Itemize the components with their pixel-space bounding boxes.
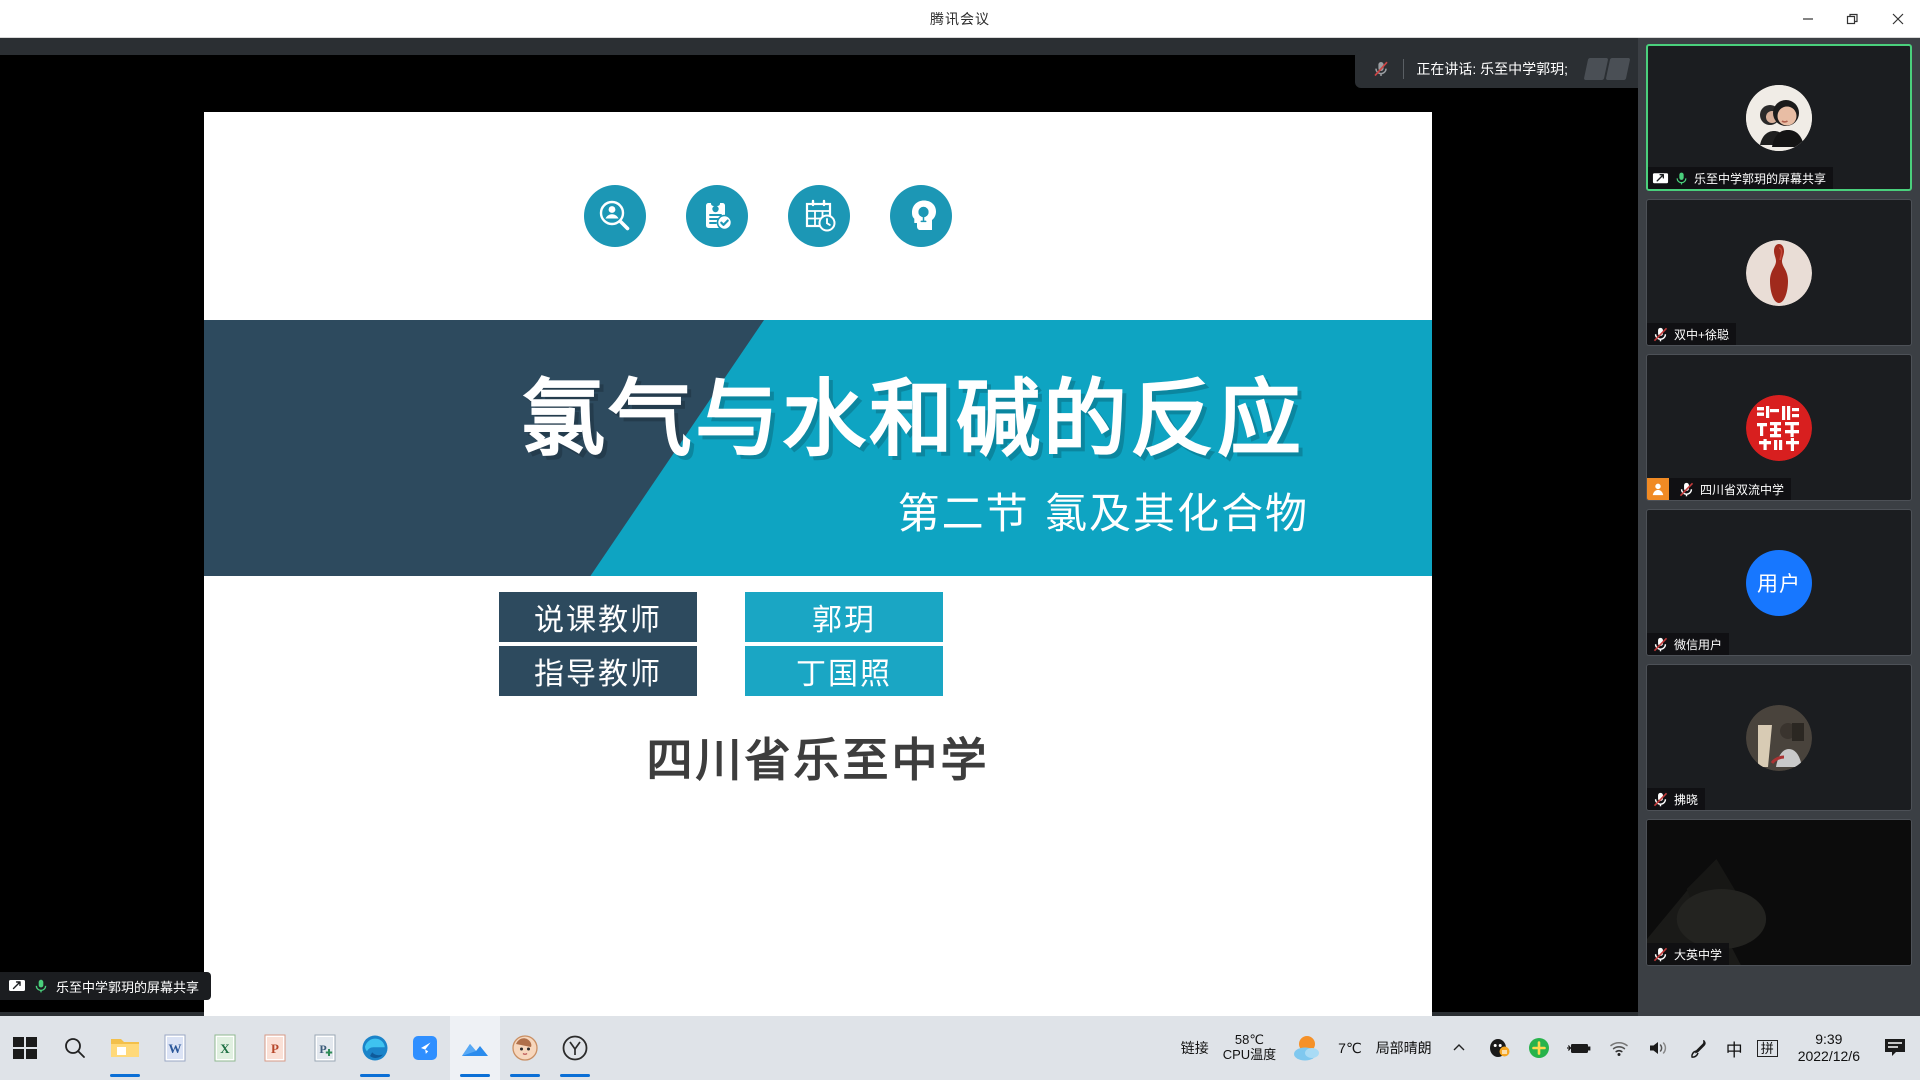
mic-muted-icon — [1647, 791, 1669, 808]
close-button[interactable] — [1875, 0, 1920, 38]
pen-icon[interactable] — [1686, 1035, 1712, 1061]
presentation-slide: 氯气与水和碱的反应 第二节 氯及其化合物 说课教师 指导教师 郭玥 丁国照 四川… — [204, 112, 1432, 1033]
banner-thumbnails — [1586, 58, 1628, 80]
ime-mode-indicator[interactable]: 中 — [1726, 1036, 1743, 1061]
word-app-button[interactable]: W — [150, 1016, 200, 1080]
participant-nametag: 大英中学 — [1647, 943, 1729, 965]
participant-nametag: 双中+徐聪 — [1647, 323, 1736, 345]
participant-card-0[interactable]: 乐至中学郭玥的屏幕共享 — [1646, 44, 1912, 191]
running-indicator — [360, 1074, 390, 1077]
head-lightbulb-icon — [890, 185, 952, 247]
mic-muted-icon — [1647, 636, 1669, 653]
participant-card-2[interactable]: 四川省双流中学 — [1646, 354, 1912, 501]
clipboard-check-icon — [686, 185, 748, 247]
network-link-label[interactable]: 链接 — [1181, 1038, 1209, 1058]
participant-panel[interactable]: 乐至中学郭玥的屏幕共享 — [1638, 38, 1920, 1016]
mic-muted-icon — [1647, 946, 1669, 963]
avatar — [1746, 240, 1812, 306]
participant-name: 拂晓 — [1674, 791, 1698, 808]
teacher-value-column: 郭玥 丁国照 — [745, 592, 943, 696]
screen-share-label: 乐至中学郭玥的屏幕共享 — [56, 977, 199, 996]
avatar — [1746, 395, 1812, 461]
avatar — [1746, 85, 1812, 151]
participant-name: 大英中学 — [1674, 946, 1722, 963]
notification-icon[interactable] — [1880, 1033, 1910, 1063]
publisher-app-button[interactable]: P — [300, 1016, 350, 1080]
svg-text:P: P — [319, 1042, 326, 1056]
wifi-icon[interactable] — [1606, 1035, 1632, 1061]
screen-share-icon — [1648, 170, 1669, 187]
cpu-temp-value: 58℃ — [1235, 1033, 1264, 1048]
running-indicator — [510, 1074, 540, 1077]
search-button[interactable] — [50, 1016, 100, 1080]
calendar-clock-icon — [788, 185, 850, 247]
shared-screen-stage[interactable]: 氯气与水和碱的反应 第二节 氯及其化合物 说课教师 指导教师 郭玥 丁国照 四川… — [0, 38, 1638, 1016]
start-button[interactable] — [0, 1016, 50, 1080]
mic-muted-icon — [1371, 59, 1391, 79]
teacher-label-column: 说课教师 指导教师 — [499, 592, 697, 696]
host-badge-icon — [1647, 478, 1669, 500]
mic-on-icon — [33, 978, 49, 994]
chevron-up-icon[interactable] — [1446, 1035, 1472, 1061]
volume-icon[interactable] — [1646, 1035, 1672, 1061]
clock-time: 9:39 — [1815, 1031, 1842, 1048]
speaking-text: 正在讲话: 乐至中学郭玥; — [1416, 59, 1568, 79]
speaking-banner: 正在讲话: 乐至中学郭玥; — [1355, 50, 1638, 88]
screen-share-icon — [8, 977, 26, 995]
maximize-restore-button[interactable] — [1830, 0, 1875, 38]
participant-nametag: 拂晓 — [1647, 788, 1705, 810]
participant-card-4[interactable]: 拂晓 — [1646, 664, 1912, 811]
file-explorer-button[interactable] — [100, 1016, 150, 1080]
screen-share-status-pill: 乐至中学郭玥的屏幕共享 — [0, 972, 211, 1000]
mic-on-icon — [1674, 171, 1689, 186]
system-tray: 链接 58℃ CPU温度 7℃ 局部晴朗 — [1181, 1016, 1920, 1080]
slide-subtitle: 第二节 氯及其化合物 — [204, 480, 1309, 541]
participant-card-1[interactable]: 双中+徐聪 — [1646, 199, 1912, 346]
ime-pinyin-indicator[interactable]: 拼 — [1757, 1040, 1778, 1057]
window-title: 腾讯会议 — [930, 9, 990, 29]
participant-card-3[interactable]: 用户 微信用户 — [1646, 509, 1912, 656]
running-indicator — [560, 1074, 590, 1077]
qq-icon[interactable] — [1486, 1035, 1512, 1061]
participant-name: 乐至中学郭玥的屏幕共享 — [1694, 170, 1826, 187]
banner-divider — [1403, 59, 1404, 79]
teacher-label-1: 指导教师 — [499, 646, 697, 696]
slide-school-name: 四川省乐至中学 — [204, 724, 1432, 790]
tencent-meeting-window: 腾讯会议 — [0, 0, 1920, 1080]
green-plus-icon[interactable] — [1526, 1035, 1552, 1061]
clock-widget[interactable]: 9:39 2022/12/6 — [1792, 1031, 1866, 1065]
weather-description[interactable]: 局部晴朗 — [1376, 1038, 1432, 1058]
weather-temp[interactable]: 7℃ — [1338, 1040, 1362, 1057]
teacher-value-1: 丁国照 — [745, 646, 943, 696]
slide-title: 氯气与水和碱的反应 — [204, 352, 1304, 473]
excel-app-button[interactable]: X — [200, 1016, 250, 1080]
participant-name: 四川省双流中学 — [1700, 481, 1784, 498]
participant-card-5[interactable]: 大英中学 — [1646, 819, 1912, 966]
clock-date: 2022/12/6 — [1798, 1048, 1860, 1065]
avatar — [1746, 705, 1812, 771]
compass-app-button[interactable] — [550, 1016, 600, 1080]
window-controls — [1785, 0, 1920, 38]
powerpoint-app-button[interactable]: P — [250, 1016, 300, 1080]
avatar: 用户 — [1746, 550, 1812, 616]
participant-nametag: 四川省双流中学 — [1647, 478, 1791, 500]
svg-text:W: W — [169, 1041, 182, 1056]
windows-taskbar: W X P — [0, 1016, 1920, 1080]
svg-text:P: P — [271, 1041, 279, 1056]
participant-nametag: 乐至中学郭玥的屏幕共享 — [1648, 167, 1833, 189]
teacher-value-0: 郭玥 — [745, 592, 943, 642]
running-indicator — [110, 1074, 140, 1077]
battery-icon[interactable] — [1566, 1035, 1592, 1061]
mic-muted-icon — [1678, 481, 1695, 498]
avatar-app-button[interactable] — [500, 1016, 550, 1080]
minimize-button[interactable] — [1785, 0, 1830, 38]
cpu-temp-label: CPU温度 — [1223, 1048, 1276, 1063]
edge-browser-button[interactable] — [350, 1016, 400, 1080]
running-indicator — [460, 1074, 490, 1077]
person-search-icon — [584, 185, 646, 247]
tencent-meeting-app-button[interactable] — [450, 1016, 500, 1080]
taskbar-apps: W X P — [0, 1016, 600, 1080]
weather-icon[interactable] — [1290, 1031, 1324, 1065]
window-titlebar: 腾讯会议 — [0, 0, 1920, 38]
participant-name: 微信用户 — [1674, 636, 1722, 653]
mic-muted-icon — [1647, 326, 1669, 343]
slide-icon-row — [204, 112, 1432, 320]
cpu-temperature-widget[interactable]: 58℃ CPU温度 — [1223, 1033, 1276, 1063]
participant-name: 双中+徐聪 — [1674, 326, 1729, 343]
blue-arrow-app-button[interactable] — [400, 1016, 450, 1080]
teacher-label-0: 说课教师 — [499, 592, 697, 642]
teacher-table: 说课教师 指导教师 郭玥 丁国照 — [499, 592, 943, 696]
participant-nametag: 微信用户 — [1647, 633, 1729, 655]
meeting-body: 氯气与水和碱的反应 第二节 氯及其化合物 说课教师 指导教师 郭玥 丁国照 四川… — [0, 38, 1920, 1016]
svg-text:X: X — [220, 1041, 230, 1056]
